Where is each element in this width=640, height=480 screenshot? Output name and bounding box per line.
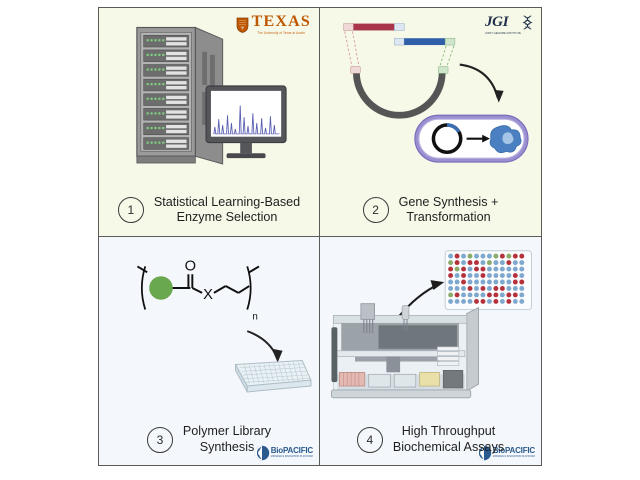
assay-well [448, 286, 453, 291]
panel-3-illustration: O X n [99, 237, 319, 414]
panel-1-statistical-learning: TEXAS The University of Texas at Austin [99, 8, 320, 237]
assay-well [448, 260, 453, 265]
assay-well [448, 253, 453, 258]
assay-well [493, 298, 498, 303]
assay-well [468, 260, 473, 265]
assay-well [487, 298, 492, 303]
assay-well [506, 279, 511, 284]
assay-well [493, 266, 498, 271]
assay-well [500, 253, 505, 258]
assay-well [474, 260, 479, 265]
panel-1-caption-line-2: Enzyme Selection [154, 210, 300, 225]
assay-well [455, 253, 460, 258]
assay-well [487, 260, 492, 265]
assay-well [468, 298, 473, 303]
biopacific-subtitle-panel-3: MATERIALS INNOVATION PLATFORM [271, 456, 313, 458]
assay-well [487, 279, 492, 284]
panel-4-caption-line-1: High Throughput [393, 424, 504, 439]
panel-2-number: 2 [363, 197, 389, 223]
assay-well [455, 298, 460, 303]
panel-3-polymer-library: O X n [99, 237, 320, 466]
assay-well [487, 253, 492, 258]
panel-2-caption-line-1: Gene Synthesis + [399, 195, 499, 210]
assay-well [461, 266, 466, 271]
panel-4-caption: 4 High Throughput Biochemical Assays [320, 424, 541, 455]
x-group-label: X [203, 286, 213, 302]
panel-2-caption-line-2: Transformation [399, 210, 499, 225]
assay-well [461, 273, 466, 278]
assay-well [493, 292, 498, 297]
assay-well [506, 273, 511, 278]
assay-well [500, 286, 505, 291]
assay-well [481, 292, 486, 297]
assay-well [474, 286, 479, 291]
assay-well [493, 279, 498, 284]
assay-well [519, 273, 524, 278]
oxygen-label: O [185, 258, 196, 274]
liquid-handling-robot [331, 303, 478, 397]
liquid-handler-assay-graphic [320, 237, 541, 414]
assay-well [506, 292, 511, 297]
assay-well [474, 292, 479, 297]
panel-4-caption-text: High Throughput Biochemical Assays [393, 424, 504, 455]
assay-well [461, 260, 466, 265]
assay-well [474, 273, 479, 278]
assay-well [461, 253, 466, 258]
assay-well [493, 260, 498, 265]
assay-well [513, 279, 518, 284]
panel-4-number: 4 [357, 427, 383, 453]
assay-well [493, 273, 498, 278]
assay-well [487, 286, 492, 291]
assay-well [500, 266, 505, 271]
workflow-figure: TEXAS The University of Texas at Austin [98, 7, 542, 466]
dna-fragment-red [344, 24, 404, 31]
assay-well [519, 260, 524, 265]
assay-well [493, 253, 498, 258]
plasmid-backbone [356, 72, 442, 115]
assay-well [513, 260, 518, 265]
assay-well [474, 279, 479, 284]
panel-1-caption-line-1: Statistical Learning-Based [154, 195, 300, 210]
assay-well [481, 298, 486, 303]
assay-well [513, 292, 518, 297]
assay-well [500, 298, 505, 303]
assay-well [506, 298, 511, 303]
assay-well [474, 253, 479, 258]
panel-2-caption-text: Gene Synthesis + Transformation [399, 195, 499, 226]
assay-well [455, 260, 460, 265]
assay-well [455, 286, 460, 291]
assay-well [500, 273, 505, 278]
microplate-96-well [235, 360, 311, 391]
assay-well [481, 260, 486, 265]
assay-well [448, 266, 453, 271]
assay-well [481, 286, 486, 291]
gene-assembly-transformation-graphic [320, 8, 541, 184]
assay-well [519, 266, 524, 271]
panel-4-illustration [320, 237, 541, 414]
dna-fragment-blue [394, 38, 454, 45]
assay-well [461, 286, 466, 291]
assay-well [481, 253, 486, 258]
assay-well [519, 298, 524, 303]
assay-well [500, 292, 505, 297]
assay-well [487, 273, 492, 278]
assay-plate-96-well [445, 250, 531, 309]
panel-2-illustration [320, 8, 541, 184]
assay-well [474, 266, 479, 271]
assay-well [506, 286, 511, 291]
assay-well [461, 279, 466, 284]
assay-well [506, 253, 511, 258]
assay-well [474, 298, 479, 303]
assay-well [519, 253, 524, 258]
assay-well [455, 279, 460, 284]
synthesis-arrow [247, 331, 282, 362]
assay-well [493, 286, 498, 291]
assay-well [468, 279, 473, 284]
assay-well [500, 279, 505, 284]
assay-well [455, 292, 460, 297]
panel-1-illustration [99, 8, 319, 184]
monomer-sphere [149, 276, 173, 300]
assay-well [448, 298, 453, 303]
assay-well [461, 292, 466, 297]
assay-well [468, 286, 473, 291]
panel-1-number: 1 [118, 197, 144, 223]
bacterial-cell [415, 115, 528, 162]
assay-well [506, 260, 511, 265]
panel-2-caption: 2 Gene Synthesis + Transformation [320, 195, 541, 226]
assay-well [468, 253, 473, 258]
assay-well [461, 298, 466, 303]
assay-well [448, 279, 453, 284]
assay-well [481, 273, 486, 278]
panel-4-high-throughput-assays: BioPACIFIC MATERIALS INNOVATION PLATFORM… [320, 237, 541, 466]
assay-well [468, 273, 473, 278]
assay-well [519, 286, 524, 291]
assay-well [448, 273, 453, 278]
assay-well [500, 260, 505, 265]
server-rack-monitor-graphic [99, 8, 319, 184]
polymer-structure-graphic: O X n [99, 237, 319, 414]
assay-well [519, 279, 524, 284]
panel-3-caption: 3 Polymer Library Synthesis [99, 424, 319, 455]
assay-well [513, 273, 518, 278]
panel-3-caption-line-1: Polymer Library [183, 424, 271, 439]
assay-well [481, 266, 486, 271]
assay-well [468, 266, 473, 271]
assay-well [468, 292, 473, 297]
assay-well [513, 298, 518, 303]
panel-3-caption-line-2: Synthesis [183, 440, 271, 455]
panel-3-number: 3 [147, 427, 173, 453]
assay-well [487, 292, 492, 297]
panel-1-caption-text: Statistical Learning-Based Enzyme Select… [154, 195, 300, 226]
assay-well [513, 266, 518, 271]
transformation-arrow [460, 65, 504, 103]
panel-3-caption-text: Polymer Library Synthesis [183, 424, 271, 455]
biopacific-subtitle-panel-4: MATERIALS INNOVATION PLATFORM [493, 456, 535, 458]
panel-4-caption-line-2: Biochemical Assays [393, 440, 504, 455]
assay-well [513, 253, 518, 258]
repeat-subscript-n: n [252, 311, 257, 322]
assay-well [448, 292, 453, 297]
assay-well [481, 279, 486, 284]
assay-well [455, 273, 460, 278]
assay-well [519, 292, 524, 297]
panel-1-caption: 1 Statistical Learning-Based Enzyme Sele… [99, 195, 319, 226]
assay-well [513, 286, 518, 291]
panel-2-gene-synthesis: JGI JOINT GENOME INSTITUTE [320, 8, 541, 237]
assay-well [455, 266, 460, 271]
assay-well [506, 266, 511, 271]
assay-well [487, 266, 492, 271]
